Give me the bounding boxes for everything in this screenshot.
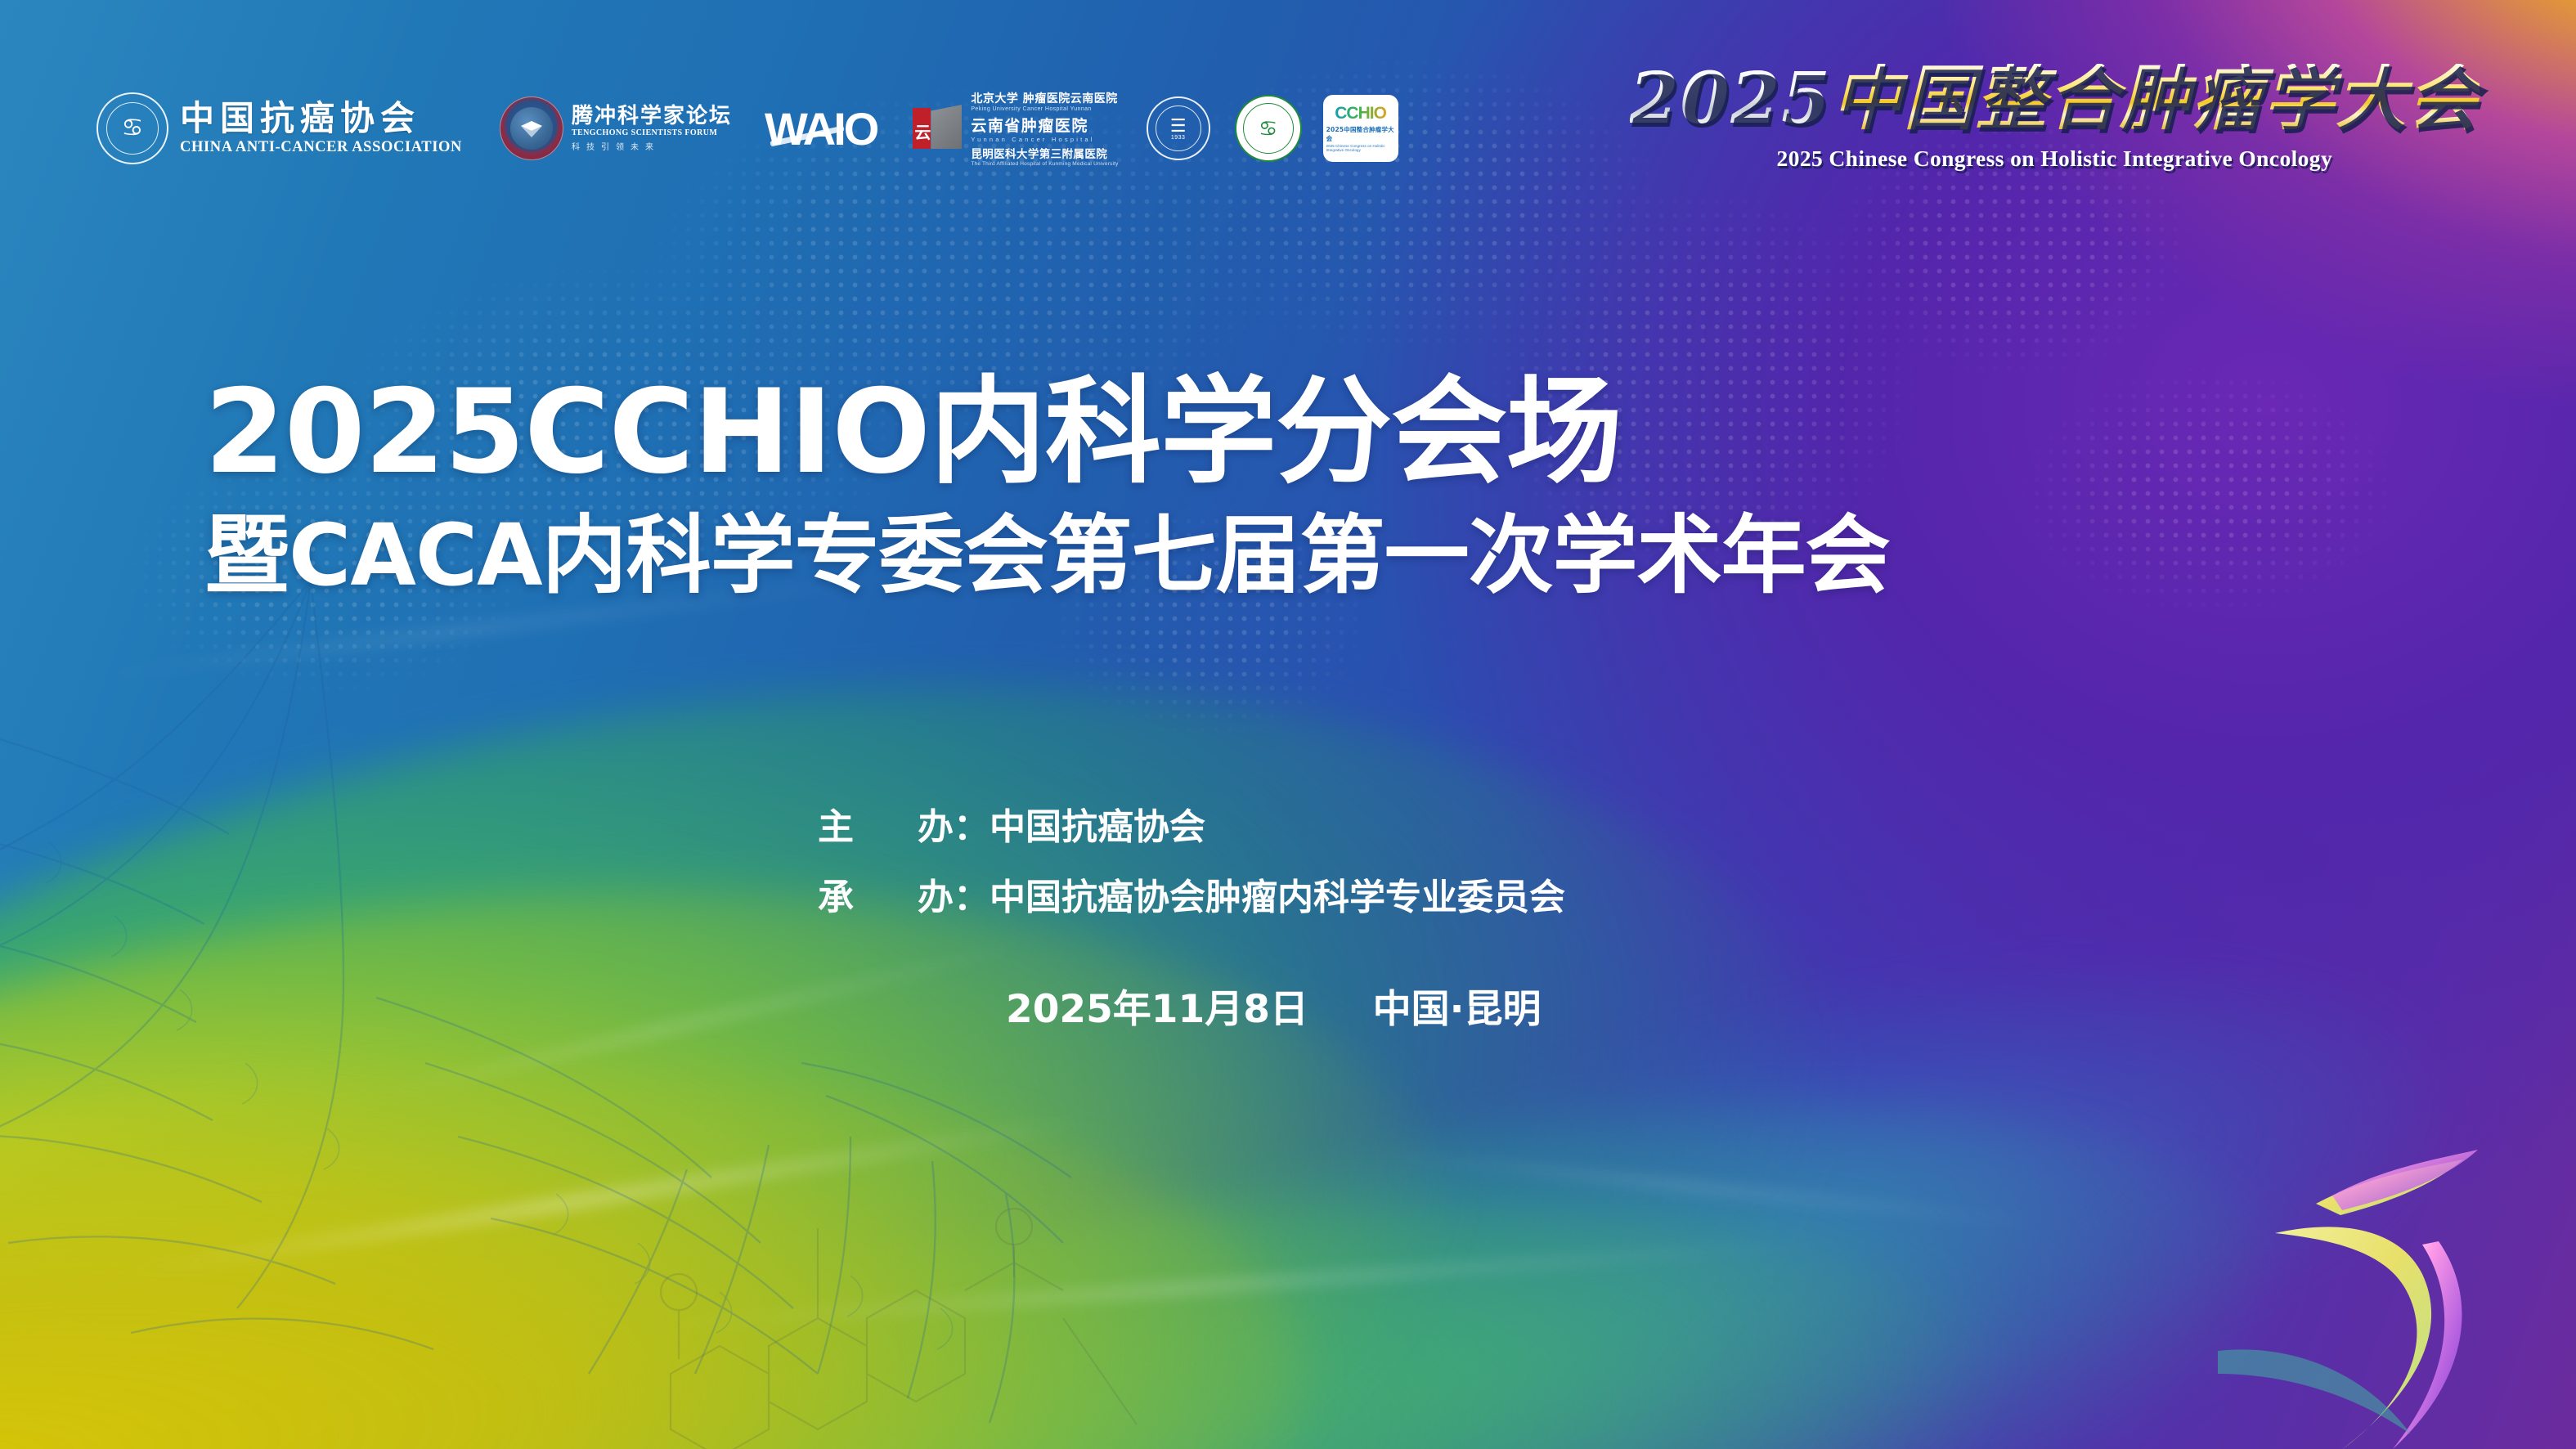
sponsor-name-cn: 中国抗癌协会 [180,101,462,137]
hospital-line2-cn: 云南省肿瘤医院 [971,114,1118,136]
congress-title-cn: 2025中国整合肿瘤学大会 [1630,64,2480,134]
logo-kunming-medical-university: ☰ 1933 [1147,96,1235,160]
sponsor-name-en: CHINA ANTI-CANCER ASSOCIATION [180,139,462,156]
logo-tengchong-scientists-forum: 腾冲科学家论坛 TENGCHONG SCIENTISTS FORUM 科技引领未… [500,96,732,160]
hospital-line1-en: Peking University Cancer Hospital Yunnan [971,106,1118,112]
organizer-label-a: 主 [818,797,854,850]
organizer-label-b: 办： [918,868,990,920]
main-title-block: 2025CCHIO内科学分会场 暨CACA内科学专委会第七届第一次学术年会 [204,370,1890,603]
congress-title-en: 2025 Chinese Congress on Holistic Integr… [1630,146,2480,172]
university-year: 1933 [1171,135,1186,141]
organizer-label-undertaker: 承 办： [818,868,990,920]
logo-cchio-badge: CCHIO 2025中国整合肿瘤学大会 2025 Chinese Congres… [1323,95,1398,162]
event-date-location: 2025年11月8日 中国·昆明 [1006,977,1542,1034]
hospital-line3-en: The Third Affiliated Hospital of Kunming… [971,161,1118,167]
sponsor-logo-strip: ♋ 中国抗癌协会 CHINA ANTI-CANCER ASSOCIATION 腾… [96,90,1398,167]
organizer-value-host: 中国抗癌协会 [990,797,1205,850]
university-seal-icon: ☰ 1933 [1147,96,1210,160]
molecule-structure-lineart-icon [622,1128,1194,1449]
cchio-badge-en: 2025 Chinese Congress on Holistic Integr… [1326,144,1395,152]
organizer-row-host: 主 办： 中国抗癌协会 [818,797,1565,850]
organizer-block: 主 办： 中国抗癌协会 承 办： 中国抗癌协会肿瘤内科学专业委员会 [818,797,1565,938]
congress-year: 2025 [1630,57,1832,140]
graduation-cap-glyph [519,118,544,139]
logo-yunnan-anti-cancer-association: ♋ [1235,95,1323,162]
sponsor-name-en: TENGCHONG SCIENTISTS FORUM [572,128,732,137]
cchio-badge-cn: 2025中国整合肿瘤学大会 [1326,125,1395,143]
hospital-line3-cn: 昆明医科大学第三附属医院 [971,145,1118,161]
congress-title-cn-text: 中国整合肿瘤学大会 [1832,57,2480,140]
crab-seal-icon: ♋ [96,92,168,164]
cchio-mark: CCHIO [1335,105,1386,122]
logo-yunnan-cancer-hospital: 云 北京大学 肿瘤医院云南医院 Peking University Cancer… [913,90,1118,167]
green-crab-seal-icon: ♋ [1235,95,1302,162]
sponsor-slogan: 科技引领未来 [572,140,732,152]
conference-banner: ♋ 中国抗癌协会 CHINA ANTI-CANCER ASSOCIATION 腾… [0,0,2576,1449]
waio-wordmark-icon: WAIO [765,102,877,155]
hospital-line1-cn: 北京大学 肿瘤医院云南医院 [971,90,1118,106]
logo-waio: WAIO [765,102,877,155]
yun-character: 云 [914,119,931,143]
hospital-line2-en: Yunnan Cancer Hospital [971,136,1118,143]
sponsor-name-cn: 腾冲科学家论坛 [572,105,732,128]
logo-china-anti-cancer-association: ♋ 中国抗癌协会 CHINA ANTI-CANCER ASSOCIATION [96,92,462,164]
globe-graduation-cap-icon [500,96,563,160]
page-title: 2025CCHIO内科学分会场 [204,370,1890,495]
organizer-label-host: 主 办： [818,797,990,850]
organizer-value-undertaker: 中国抗癌协会肿瘤内科学专业委员会 [990,868,1565,920]
page-subtitle: 暨CACA内科学专委会第七届第一次学术年会 [204,508,1890,603]
peacock-ribbon-icon [2218,1081,2561,1449]
organizer-row-undertaker: 承 办： 中国抗癌协会肿瘤内科学专业委员会 [818,868,1565,920]
organizer-label-b: 办： [918,797,990,850]
yunnan-hospital-mark-icon: 云 [913,103,963,154]
event-date: 2025年11月8日 [1006,987,1308,1032]
event-location: 中国·昆明 [1373,987,1542,1032]
organizer-label-a: 承 [818,868,854,920]
congress-logo: 2025中国整合肿瘤学大会 2025 Chinese Congress on H… [1630,64,2480,172]
cchio-peacock-badge-icon: CCHIO 2025中国整合肿瘤学大会 2025 Chinese Congres… [1323,95,1398,162]
